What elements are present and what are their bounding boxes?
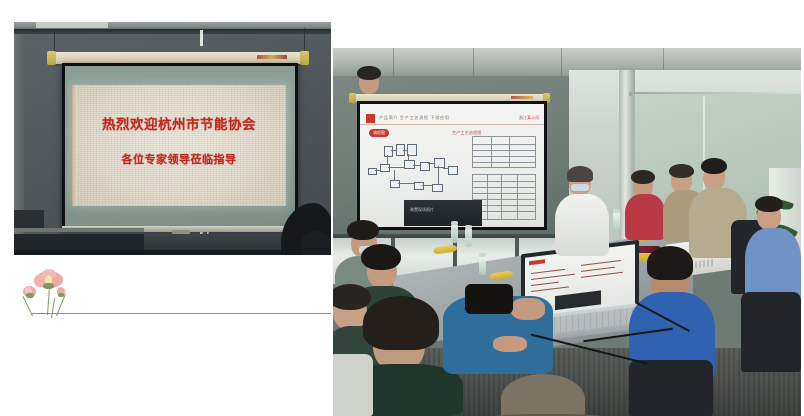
flower-divider xyxy=(14,268,331,328)
flow-connector xyxy=(443,168,449,169)
bottle-cap xyxy=(613,209,620,213)
office-chair xyxy=(629,360,713,416)
flower-calyx-left xyxy=(26,293,34,298)
bottle-cap xyxy=(479,253,486,257)
flower-calyx-main xyxy=(43,283,54,289)
person-hair xyxy=(357,66,381,80)
person-arm xyxy=(511,298,545,320)
flow-connector xyxy=(375,170,381,171)
wall-panel-rail xyxy=(14,228,144,232)
flow-node xyxy=(432,184,443,192)
bottle-cap xyxy=(465,225,472,229)
slide-inset-photo: 装置现场照片 xyxy=(404,200,482,226)
projected-welcome-slide: 热烈欢迎杭州市节能协会 各位专家领导莅临指导 xyxy=(72,85,286,206)
flower-stem-extra xyxy=(51,298,55,318)
water-bottle xyxy=(451,224,458,243)
flower-stem-left xyxy=(22,296,33,316)
ceiling-post xyxy=(200,30,203,46)
collage-page: 热烈欢迎杭州市节能协会 各位专家领导莅临指导 xyxy=(0,0,804,416)
flow-node xyxy=(414,182,424,190)
person-hair xyxy=(501,374,585,416)
projected-process-slide: 产品简介 生产工艺流程 下游应用 浙江某公司 流程图 生产工艺流程图 xyxy=(360,104,544,227)
water-bottle xyxy=(465,228,472,247)
screen-roller-cap-left xyxy=(47,51,56,65)
pink-flower-graphic xyxy=(20,268,84,320)
flow-node xyxy=(448,166,458,175)
laptop-slide-inset xyxy=(555,290,601,310)
slide-header-company: 浙江某公司 xyxy=(519,115,539,121)
slide-data-table-top xyxy=(472,136,536,168)
person-body xyxy=(625,194,665,240)
welcome-subline: 各位专家领导莅临指导 xyxy=(72,151,286,167)
flow-node xyxy=(390,180,400,188)
slide-section-tag: 流程图 xyxy=(369,129,389,137)
right-photo-conference-room: 产品简介 生产工艺流程 下游应用 浙江某公司 流程图 生产工艺流程图 xyxy=(333,48,801,416)
ceiling-light-panel xyxy=(36,22,108,28)
flow-connector xyxy=(403,150,408,151)
flow-connector xyxy=(398,183,414,184)
projection-edge-glow xyxy=(72,85,77,206)
laptop-slide-logo-icon xyxy=(529,259,545,265)
ceiling-shadow-band xyxy=(14,29,331,34)
screen-brand-label xyxy=(257,55,287,59)
flow-connector xyxy=(422,185,432,186)
water-bottle xyxy=(479,256,486,275)
person-hair xyxy=(347,220,379,240)
flow-connector xyxy=(391,150,397,151)
chair-back-white xyxy=(333,354,373,416)
process-flow-diagram xyxy=(366,140,466,198)
ceiling-tile-seam xyxy=(393,48,394,78)
welcome-headline: 热烈欢迎杭州市节能协会 xyxy=(72,113,286,133)
person-hair xyxy=(363,296,439,350)
flow-connector xyxy=(438,166,439,185)
person-hair xyxy=(669,164,694,178)
person-hair xyxy=(333,284,371,310)
flow-connector xyxy=(394,170,395,181)
flow-connector xyxy=(408,154,409,161)
flow-connector xyxy=(388,167,405,168)
flow-connector xyxy=(428,163,435,164)
person-hair xyxy=(631,170,655,184)
flow-node xyxy=(434,158,445,168)
person-body xyxy=(555,194,609,256)
ceiling-tile-seam xyxy=(473,48,474,78)
flower-calyx-right xyxy=(58,293,64,297)
water-bottle xyxy=(613,212,620,231)
person-hair xyxy=(701,158,727,174)
flow-node xyxy=(380,164,390,172)
person-hair xyxy=(647,246,693,280)
screen-roller-cap-right xyxy=(300,51,309,65)
office-chair xyxy=(741,292,801,372)
slide-header-title: 产品简介 生产工艺流程 下游应用 xyxy=(379,115,450,121)
foreground-person-shoulder xyxy=(301,231,331,255)
wall-corner-strip xyxy=(14,31,24,235)
face-mask xyxy=(571,184,589,191)
handbag xyxy=(465,284,513,314)
person-hair xyxy=(567,166,593,182)
bottle-cap xyxy=(451,221,458,225)
wall-panel-upper-left xyxy=(14,210,44,228)
room-screen-cap-left xyxy=(349,93,356,103)
flow-connector xyxy=(413,165,421,166)
person-hair xyxy=(361,244,401,270)
person-hair xyxy=(755,196,783,212)
left-photo-projector-screen: 热烈欢迎杭州市节能协会 各位专家领导莅临指导 xyxy=(14,22,331,255)
flow-node xyxy=(384,146,393,157)
room-screen-brand-label xyxy=(511,96,533,99)
flow-connector xyxy=(387,155,388,165)
slide-inset-photo-caption: 装置现场照片 xyxy=(410,207,434,213)
ceiling-tile-seam xyxy=(561,48,562,78)
person-hand xyxy=(493,336,527,352)
